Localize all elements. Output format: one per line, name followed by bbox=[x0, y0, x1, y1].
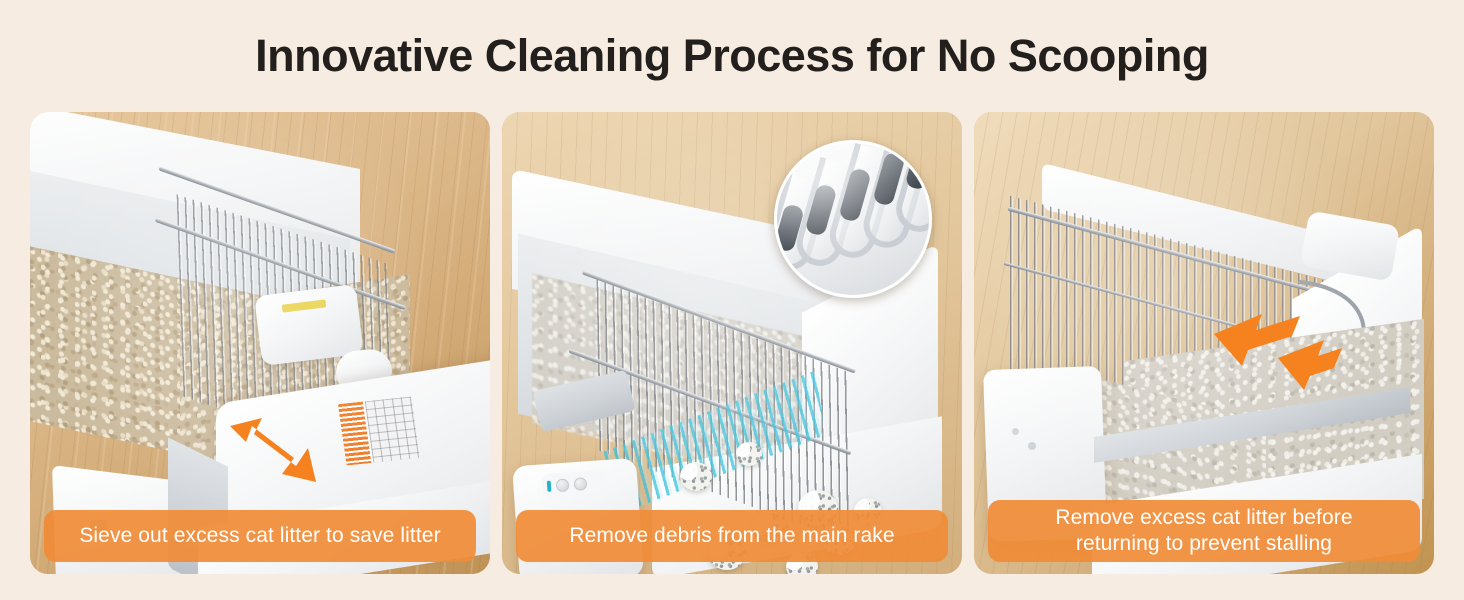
power-indicator-led bbox=[547, 480, 552, 491]
housing-screw-dot bbox=[1028, 442, 1036, 450]
magnifier-gloss bbox=[777, 143, 929, 295]
panel-caption-return: Remove excess cat litter before returnin… bbox=[988, 500, 1420, 562]
litter-clump bbox=[680, 462, 712, 491]
feature-panel-return: Remove excess cat litter before returnin… bbox=[974, 112, 1434, 574]
double-chevron-arrow-icon bbox=[1212, 310, 1342, 400]
caption-line-1: Remove excess cat litter before bbox=[1055, 505, 1352, 531]
warning-label-sticker bbox=[338, 396, 420, 465]
caption-line-2: returning to prevent stalling bbox=[1055, 531, 1352, 557]
feature-panel-sieve: Sieve out excess cat litter to save litt… bbox=[30, 112, 490, 574]
rake-tine-closeup-inset bbox=[774, 140, 932, 298]
litter-clump bbox=[736, 442, 762, 466]
panel-caption-sieve: Sieve out excess cat litter to save litt… bbox=[44, 510, 476, 562]
panel-caption-debris: Remove debris from the main rake bbox=[516, 510, 948, 562]
control-button-two[interactable] bbox=[574, 477, 588, 491]
photo-remove-debris bbox=[502, 112, 962, 574]
control-button-one[interactable] bbox=[556, 478, 570, 492]
housing-vent-dot bbox=[1012, 428, 1019, 435]
panel-row: Sieve out excess cat litter to save litt… bbox=[30, 112, 1434, 574]
photo-sieve-out-litter bbox=[30, 112, 490, 574]
sticker-diagram bbox=[364, 396, 420, 462]
caption-line: Sieve out excess cat litter to save litt… bbox=[79, 523, 440, 549]
double-headed-arrow-icon bbox=[216, 404, 336, 494]
caption-line: Remove debris from the main rake bbox=[569, 523, 894, 549]
page-title: Innovative Cleaning Process for No Scoop… bbox=[0, 28, 1464, 84]
control-panel[interactable] bbox=[541, 470, 607, 498]
product-feature-banner: Innovative Cleaning Process for No Scoop… bbox=[0, 0, 1464, 600]
feature-panel-debris: Remove debris from the main rake bbox=[502, 112, 962, 574]
